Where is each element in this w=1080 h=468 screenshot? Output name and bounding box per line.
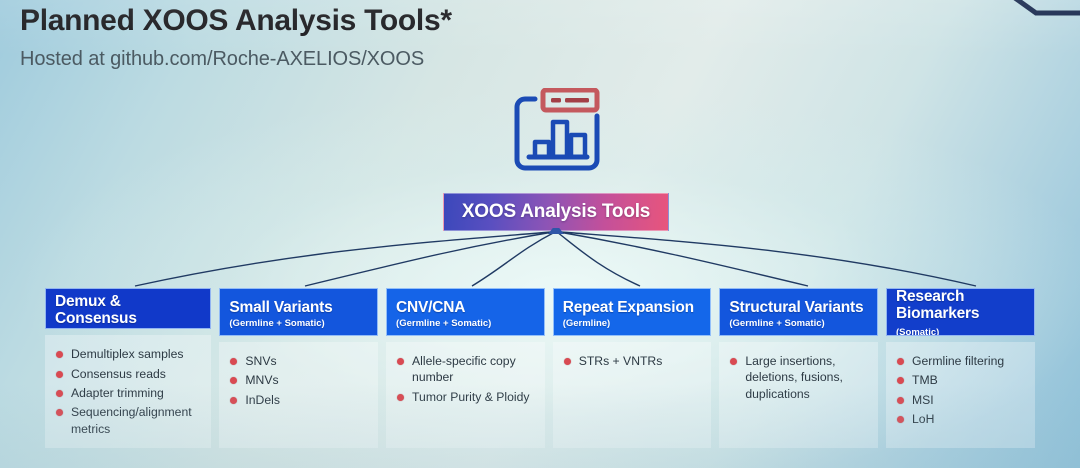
list-item: Allele-specific copy number <box>395 353 536 386</box>
column-header[interactable]: Repeat Expansion (Germline) <box>553 288 712 336</box>
list-item: TMB <box>895 372 1026 388</box>
column-cnv-cna: CNV/CNA (Germline + Somatic) Allele-spec… <box>386 288 545 448</box>
list-item: MNVs <box>228 372 369 388</box>
column-small-variants: Small Variants (Germline + Somatic) SNVs… <box>219 288 378 448</box>
page-title: Planned XOOS Analysis Tools* <box>20 4 452 39</box>
list-item: Sequencing/alignment metrics <box>54 404 202 437</box>
column-title-line2: Consensus <box>55 310 137 327</box>
column-header[interactable]: CNV/CNA (Germline + Somatic) <box>386 288 545 336</box>
list-item: Consensus reads <box>54 366 202 382</box>
column-header[interactable]: Research Biomarkers (Somatic) <box>886 288 1035 336</box>
column-title: Demux & Consensus <box>55 294 201 327</box>
list-item: STRs + VNTRs <box>562 353 703 369</box>
bullet-list: Large insertions, deletions, fusions, du… <box>728 353 869 402</box>
column-repeat-expansion: Repeat Expansion (Germline) STRs + VNTRs <box>553 288 712 448</box>
page-subtitle: Hosted at github.com/Roche-AXELIOS/XOOS <box>20 48 452 71</box>
column-body: STRs + VNTRs <box>553 342 712 448</box>
column-body: Large insertions, deletions, fusions, du… <box>719 342 878 448</box>
column-subtitle: (Germline + Somatic) <box>729 318 868 329</box>
bullet-list: Germline filtering TMB MSI LoH <box>895 353 1026 427</box>
bullet-list: SNVs MNVs InDels <box>228 353 369 408</box>
column-title: Repeat Expansion <box>563 300 702 317</box>
corner-chevron-icon <box>1006 0 1080 17</box>
list-item: SNVs <box>228 353 369 369</box>
column-title: Research Biomarkers (Somatic) <box>896 289 1025 336</box>
column-subtitle: (Germline + Somatic) <box>229 318 368 329</box>
column-demux-consensus: Demux & Consensus Demultiplex samples Co… <box>45 288 211 448</box>
column-title: Structural Variants <box>729 300 868 317</box>
bullet-list: Demultiplex samples Consensus reads Adap… <box>54 346 202 437</box>
list-item: Large insertions, deletions, fusions, du… <box>728 353 869 402</box>
column-title: Small Variants <box>229 300 368 317</box>
analysis-columns: Demux & Consensus Demultiplex samples Co… <box>45 288 1035 448</box>
column-research-biomarkers: Research Biomarkers (Somatic) Germline f… <box>886 288 1035 448</box>
column-subtitle: (Germline + Somatic) <box>396 318 535 329</box>
column-header[interactable]: Structural Variants (Germline + Somatic) <box>719 288 878 336</box>
xoos-analysis-tools-badge[interactable]: XOOS Analysis Tools <box>443 193 669 231</box>
list-item: InDels <box>228 392 369 408</box>
column-title-line1: Demux & <box>55 293 121 310</box>
list-item: Germline filtering <box>895 353 1026 369</box>
bar-chart-report-icon <box>505 88 613 184</box>
slide-canvas: Planned XOOS Analysis Tools* Hosted at g… <box>0 0 1080 468</box>
column-header[interactable]: Small Variants (Germline + Somatic) <box>219 288 378 336</box>
column-title: CNV/CNA <box>396 300 535 317</box>
list-item: Tumor Purity & Ploidy <box>395 389 536 405</box>
column-structural-variants: Structural Variants (Germline + Somatic)… <box>719 288 878 448</box>
column-body: Allele-specific copy number Tumor Purity… <box>386 342 545 448</box>
column-title-line1: Research <box>896 288 964 305</box>
column-inline-subtitle: (Somatic) <box>896 327 939 336</box>
bullet-list: Allele-specific copy number Tumor Purity… <box>395 353 536 405</box>
column-subtitle: (Germline) <box>563 318 702 329</box>
column-body: Germline filtering TMB MSI LoH <box>886 342 1035 448</box>
connector-lines <box>0 228 1080 290</box>
slide-header: Planned XOOS Analysis Tools* Hosted at g… <box>20 4 452 71</box>
bullet-list: STRs + VNTRs <box>562 353 703 369</box>
list-item: Adapter trimming <box>54 385 202 401</box>
list-item: LoH <box>895 411 1026 427</box>
column-body: SNVs MNVs InDels <box>219 342 378 448</box>
column-body: Demultiplex samples Consensus reads Adap… <box>45 335 211 448</box>
badge-label: XOOS Analysis Tools <box>462 201 650 223</box>
column-title-line2: Biomarkers <box>896 305 979 322</box>
list-item: Demultiplex samples <box>54 346 202 362</box>
list-item: MSI <box>895 392 1026 408</box>
column-header[interactable]: Demux & Consensus <box>45 288 211 329</box>
